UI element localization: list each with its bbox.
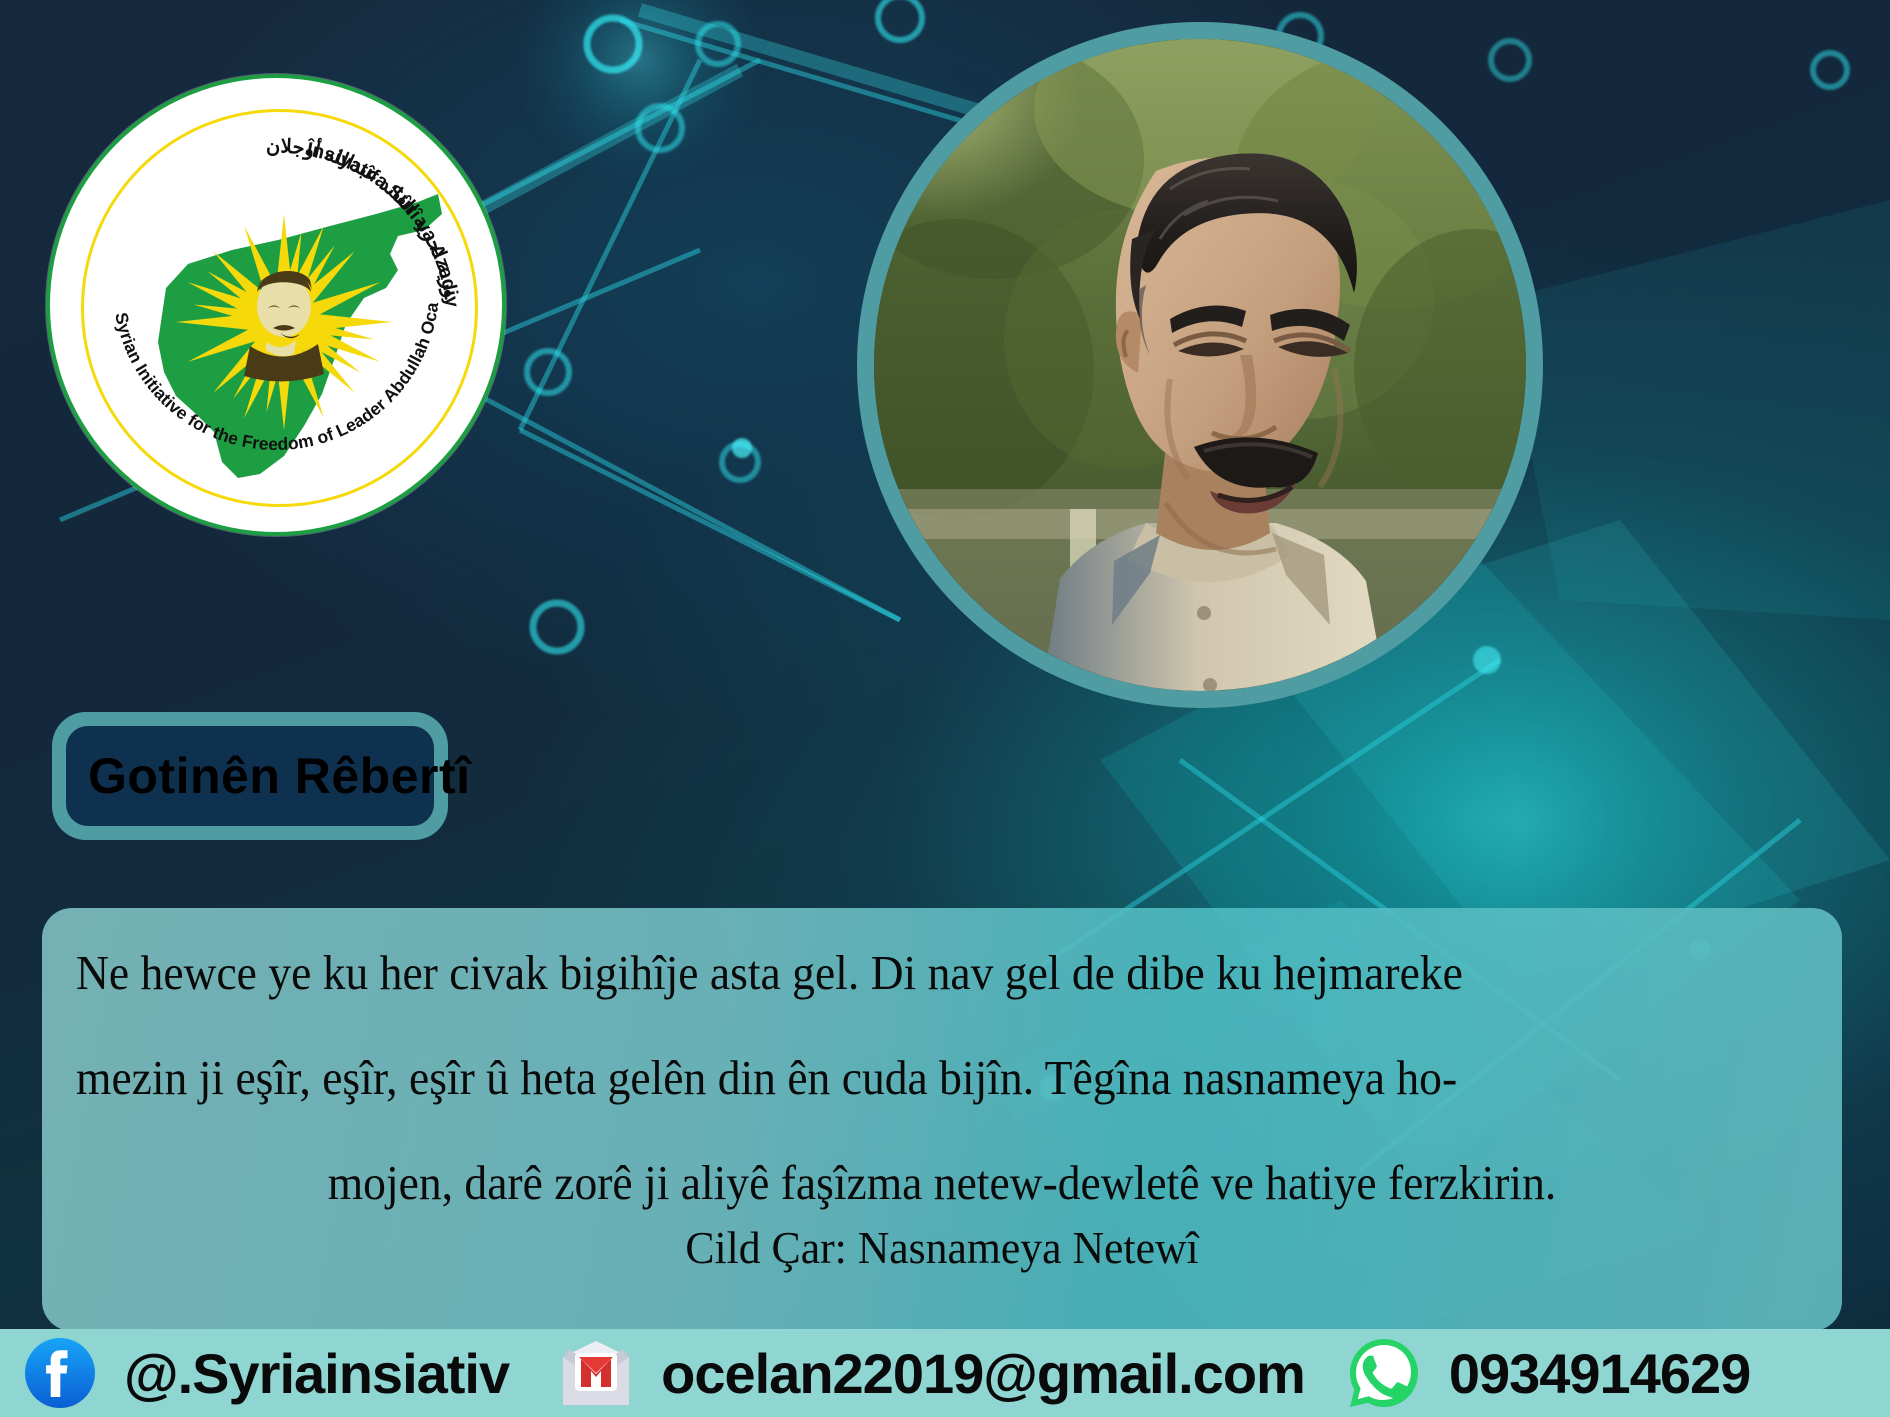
email-contact[interactable]: ocelan22019@gmail.com	[557, 1335, 1305, 1411]
quote-line-3: mojen, darê zorê ji aliyê faşîzma netew-…	[137, 1158, 1748, 1207]
whatsapp-number: 0934914629	[1449, 1341, 1750, 1406]
contact-footer: @.Syriainsiativ ocelan22019@gmail.com 09…	[0, 1329, 1890, 1417]
abdullah-ocalan-photo	[874, 39, 1526, 691]
section-title-inner: Gotinên Rêbertî	[66, 726, 434, 826]
email-address: ocelan22019@gmail.com	[661, 1341, 1305, 1406]
poster-canvas: Însiyatîfa Sûrî ya Azadiya Rêber Abdulla…	[0, 0, 1890, 1417]
quote-panel: Ne hewce ye ku her civak bigihîje asta g…	[42, 908, 1842, 1331]
gmail-icon[interactable]	[557, 1335, 635, 1411]
section-title-badge: Gotinên Rêbertî	[52, 712, 448, 840]
quote-source: Cild Çar: Nasnameya Netewî	[119, 1221, 1764, 1274]
quote-line-1: Ne hewce ye ku her civak bigihîje asta g…	[76, 948, 1687, 997]
page-title: Gotinên Rêbertî	[88, 747, 471, 805]
organization-logo: Însiyatîfa Sûrî ya Azadiya Rêber Abdulla…	[46, 74, 506, 536]
facebook-contact[interactable]: @.Syriainsiativ	[22, 1335, 509, 1411]
logo-artwork: Însiyatîfa Sûrî ya Azadiya Rêber Abdulla…	[46, 74, 506, 536]
quote-line-2: mezin ji eşîr, eşîr, eşîr û heta gelên d…	[76, 1053, 1687, 1102]
portrait-frame	[857, 22, 1543, 708]
whatsapp-icon[interactable]	[1345, 1334, 1423, 1412]
facebook-icon[interactable]	[22, 1335, 98, 1411]
whatsapp-contact[interactable]: 0934914629	[1345, 1334, 1750, 1412]
facebook-handle: @.Syriainsiativ	[124, 1341, 509, 1406]
